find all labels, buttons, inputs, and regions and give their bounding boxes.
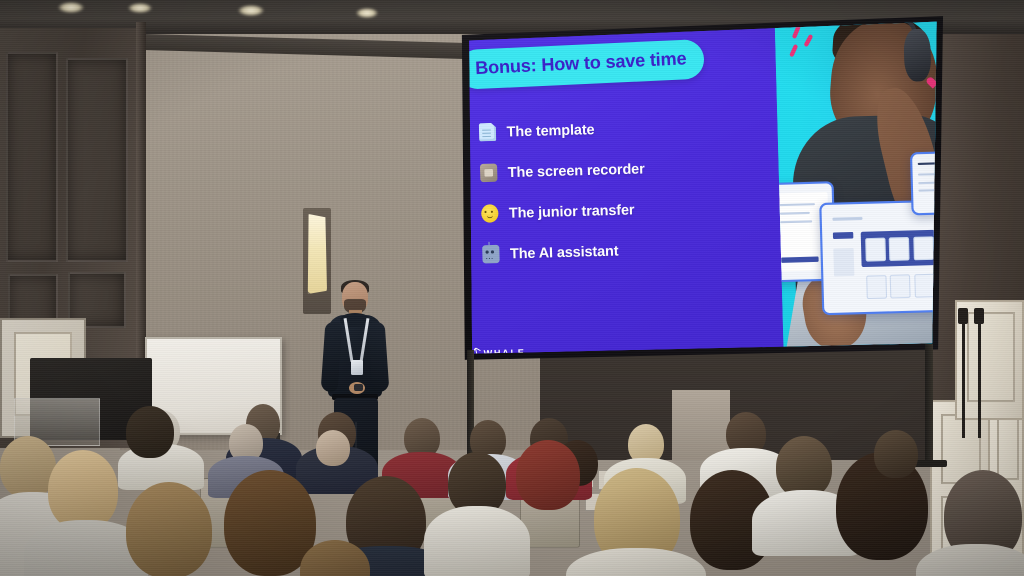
slide-canvas: Bonus: How to save time The template The… xyxy=(455,14,945,362)
slide-left-panel: Bonus: How to save time The template The… xyxy=(455,14,784,362)
mock-text-line xyxy=(919,181,945,184)
robot-icon xyxy=(482,245,500,264)
ceiling-downlight xyxy=(356,8,378,18)
door-rod xyxy=(962,318,965,438)
slide-title: Bonus: How to save time xyxy=(475,48,687,78)
mock-side-block xyxy=(833,248,854,276)
screen-stand-leg-right xyxy=(925,344,933,464)
ceiling-downlight xyxy=(128,3,152,13)
audience-head xyxy=(874,430,918,478)
slide-photo-panel xyxy=(774,14,945,362)
ceiling-downlight xyxy=(238,5,264,16)
door-panel-inset xyxy=(967,312,1015,402)
presenter-badge xyxy=(351,360,363,375)
audience-head xyxy=(316,430,350,466)
wood-panel-inset xyxy=(6,52,58,262)
slide-bullet-label: The junior transfer xyxy=(509,201,635,220)
mock-tile xyxy=(913,236,934,260)
slide-bullet-item: The AI assistant xyxy=(482,241,647,264)
screen-display-area: Bonus: How to save time The template The… xyxy=(455,14,945,362)
mock-tile xyxy=(865,237,886,261)
slide-bullet-list: The template The screen recorder The jun… xyxy=(479,119,648,286)
mock-accent-bar xyxy=(833,233,854,240)
wall-textile-right-strip xyxy=(672,390,730,460)
audience-head xyxy=(126,406,174,458)
slide-title-pill: Bonus: How to save time xyxy=(458,38,705,89)
slide-bullet-label: The AI assistant xyxy=(510,243,619,262)
slide-bullet-item: The junior transfer xyxy=(481,200,646,223)
document-icon xyxy=(479,123,497,142)
baby-face-icon xyxy=(481,204,499,223)
presenter-clicker xyxy=(354,384,363,391)
door-handle[interactable] xyxy=(958,308,968,324)
ceiling-downlight xyxy=(58,2,84,13)
presentation-photo-scene: Bonus: How to save time The template The… xyxy=(0,0,1024,576)
mock-tile xyxy=(914,273,935,297)
mock-text-line xyxy=(918,172,945,175)
browser-dashboard-card xyxy=(819,200,945,315)
slide-bullet-label: The template xyxy=(506,121,594,139)
door-handle[interactable] xyxy=(974,308,984,324)
mock-tile xyxy=(889,236,910,260)
audience-head xyxy=(516,440,580,510)
audience-head xyxy=(48,450,118,530)
mock-text-line xyxy=(832,217,863,221)
audience-shoulders xyxy=(424,506,530,576)
slide-bullet-label: The screen recorder xyxy=(508,160,645,180)
mock-footer-bar xyxy=(781,256,819,262)
slide-bullet-item: The template xyxy=(479,119,644,142)
mock-tile xyxy=(890,274,911,298)
mock-tile xyxy=(866,275,887,299)
headphones-earcup-icon xyxy=(903,29,932,82)
screen-recorder-icon xyxy=(480,163,498,182)
presenter-arm-right xyxy=(368,321,390,392)
audience-head xyxy=(126,482,212,576)
mock-text-line xyxy=(919,189,945,192)
slide-bullet-item: The screen recorder xyxy=(480,159,645,182)
door-rod xyxy=(978,318,981,438)
audience-head xyxy=(776,436,832,498)
mock-title-line xyxy=(918,162,945,166)
wood-panel-inset xyxy=(66,58,128,262)
projection-screen: Bonus: How to save time The template The… xyxy=(455,14,945,370)
